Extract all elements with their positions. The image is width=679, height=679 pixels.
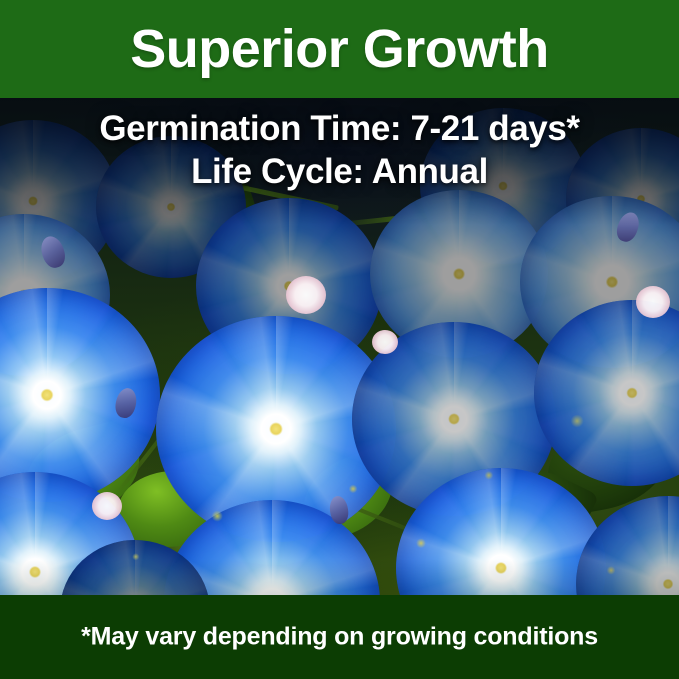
seed-packet-info-card: Superior Growth Germination Time: 7-21 d… [0,0,679,679]
morning-glory-photo [0,0,679,679]
header-banner: Superior Growth [0,0,679,98]
spec-list: Germination Time: 7-21 days* Life Cycle:… [0,108,679,193]
footnote-disclaimer: *May vary depending on growing condition… [0,625,679,650]
footer-banner: *May vary depending on growing condition… [0,595,679,679]
spec-life-cycle: Life Cycle: Annual [0,151,679,194]
spec-germination-time: Germination Time: 7-21 days* [0,108,679,151]
page-title: Superior Growth [0,22,679,76]
